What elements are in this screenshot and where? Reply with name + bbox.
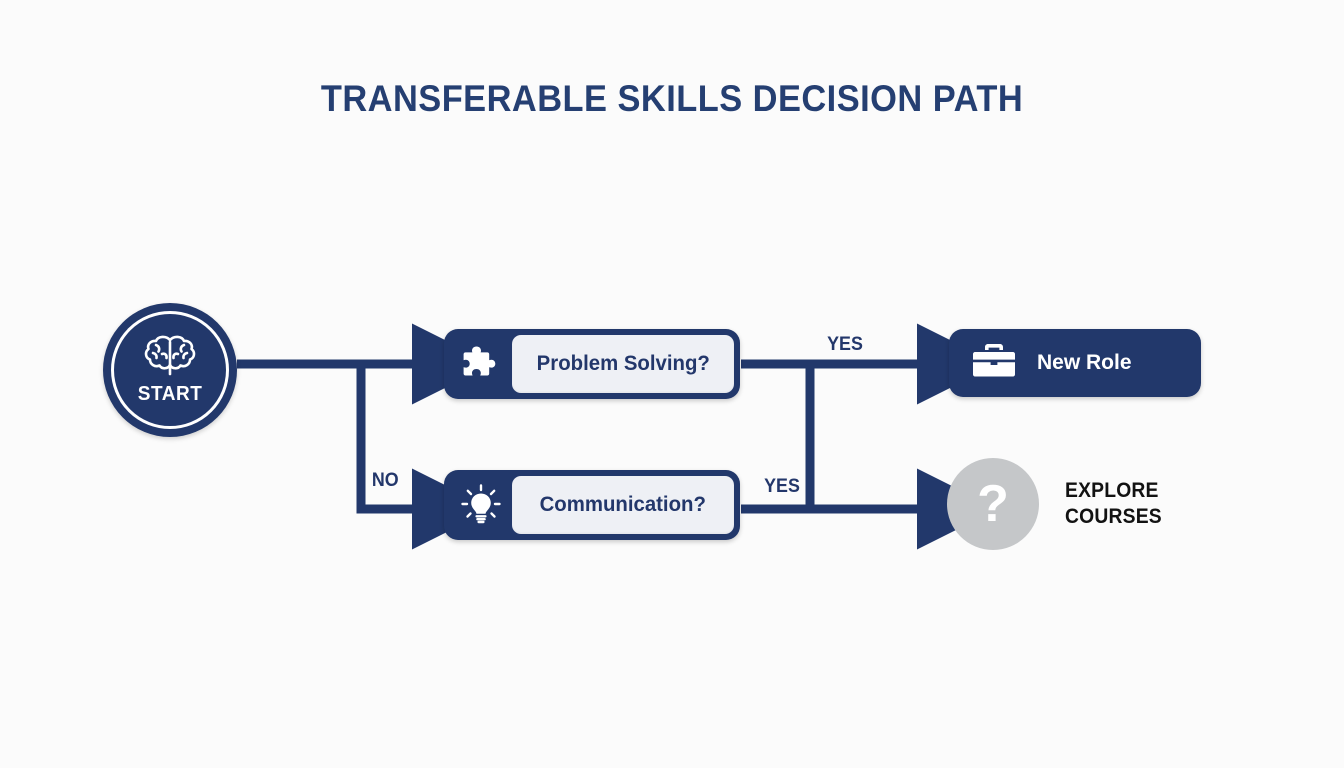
- start-node[interactable]: START: [103, 303, 237, 437]
- outcome-node-explore-courses[interactable]: ? EXPLORE COURSES: [947, 458, 1170, 550]
- decision-node-problem-solving[interactable]: Problem Solving?: [444, 329, 740, 399]
- diagram-canvas: TRANSFERABLE SKILLS DECISION PATH START: [0, 0, 1344, 768]
- explore-label-line-2: COURSES: [1065, 504, 1162, 530]
- outcome-label-explore-courses: EXPLORE COURSES: [1065, 478, 1162, 529]
- decision-label-panel: Communication?: [512, 476, 734, 534]
- outcome-label-new-role: New Role: [1037, 351, 1132, 375]
- start-label: START: [138, 383, 203, 406]
- lightbulb-icon: [450, 476, 512, 534]
- decision-label-communication: Communication?: [540, 493, 706, 517]
- puzzle-icon: [450, 335, 512, 393]
- brain-icon: [142, 334, 198, 381]
- page-title: TRANSFERABLE SKILLS DECISION PATH: [47, 78, 1297, 120]
- decision-label-problem-solving: Problem Solving?: [536, 352, 709, 376]
- briefcase-icon: [971, 341, 1017, 386]
- outcome-node-new-role[interactable]: New Role: [949, 329, 1201, 397]
- explore-label-line-1: EXPLORE: [1065, 478, 1162, 504]
- edge-label-yes-bottom: YES: [761, 476, 802, 498]
- decision-label-panel: Problem Solving?: [512, 335, 734, 393]
- decision-node-communication[interactable]: Communication?: [444, 470, 740, 540]
- edge-label-yes-top: YES: [824, 334, 865, 356]
- question-mark-icon: ?: [947, 458, 1039, 550]
- question-mark-glyph: ?: [977, 478, 1009, 530]
- edge-label-no: NO: [369, 470, 401, 492]
